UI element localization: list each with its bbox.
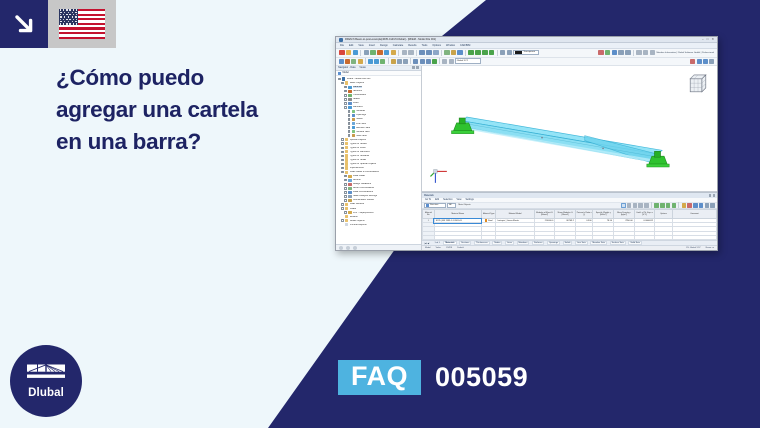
status-csrs: CS/RS (446, 247, 452, 249)
tree-expand-icon[interactable]: + (341, 203, 344, 206)
table-settings-icon[interactable] (710, 203, 715, 208)
tree-node-label: Types for Special Objects (350, 163, 376, 165)
app-status-bar: Model Value CS/RS Default CS: Global XYZ… (422, 245, 717, 250)
tree-node-label: Static Analysis Settings (353, 195, 377, 197)
tree-expand-icon[interactable]: + (348, 110, 351, 113)
table-first-icon[interactable] (654, 203, 659, 208)
navigator-refresh-icon[interactable] (353, 246, 357, 250)
main-objects-toggle[interactable]: Main Objects (457, 203, 473, 207)
navigator-collapse-icon[interactable] (346, 246, 350, 250)
status-value: Value (436, 247, 441, 249)
arrow-down-right-icon (0, 0, 48, 48)
tree-node-label: RFEM - Model File 001 (347, 78, 371, 80)
toolbar2-table-icon[interactable] (703, 59, 708, 64)
cell-material-no[interactable] (423, 235, 435, 239)
action-icon (348, 179, 351, 182)
us-flag-icon (48, 0, 116, 48)
toolbar-loads-icon[interactable] (457, 50, 463, 56)
tree-expand-icon[interactable]: + (344, 86, 347, 89)
app-title: RFEM 6 Beam-to-post-example[4635-CHN-5.D… (345, 38, 700, 41)
wizard-icon (348, 199, 351, 202)
toolbar2-measure-icon[interactable] (432, 59, 437, 64)
toolbar2-mirror-icon[interactable] (420, 59, 425, 64)
model-icon (342, 77, 345, 80)
navigator-pin-icon[interactable] (412, 66, 415, 69)
toolbar-results-icon[interactable] (507, 50, 513, 56)
table-menu-edit[interactable]: Edit (435, 199, 439, 201)
status-default: Default (457, 247, 464, 249)
toolbar-open-icon[interactable] (346, 50, 352, 56)
toolbar2-array-icon[interactable] (426, 59, 431, 64)
status-units: Name: m (706, 247, 714, 249)
tree-node-label: Load Cases & Combinations (350, 171, 380, 173)
table-pager-label: 1 of 1 (433, 242, 440, 244)
tree-node-label: Members (353, 106, 363, 108)
results-icon (345, 215, 348, 218)
surfaceset-icon (352, 130, 355, 133)
toolbar-copy-icon[interactable] (384, 50, 390, 56)
color-swatch-icon (515, 51, 522, 54)
toolbar2-member-icon[interactable] (351, 59, 356, 64)
cell-material-name[interactable] (434, 235, 481, 239)
structural-model (422, 66, 717, 192)
cell-mass-density[interactable] (614, 235, 635, 239)
main-objects-label: Main Objects (458, 204, 470, 206)
folder-icon (345, 219, 348, 222)
table-sort-icon[interactable] (633, 203, 638, 208)
col-shear-g[interactable]: Shear Modulus G [N/mm²] (555, 210, 576, 219)
tree-expand-icon[interactable]: + (348, 134, 351, 137)
table-pin-icon[interactable] (709, 194, 711, 196)
table-delete-row-icon[interactable] (687, 203, 692, 208)
tree-collapse-icon[interactable]: - (338, 78, 341, 81)
toolbar-ortho-icon[interactable] (433, 50, 439, 56)
tree-node-label: Types for Nodes (350, 143, 367, 145)
toolbar2-dimension-icon[interactable] (397, 59, 402, 64)
table-toolbar-separator (678, 202, 679, 208)
toolbar-numbering-icon[interactable] (451, 50, 457, 56)
toolbar-redo-icon[interactable] (408, 50, 414, 56)
model-icon (338, 72, 341, 75)
toolbar2-text-icon[interactable] (403, 59, 408, 64)
menu-item-design[interactable]: Design (380, 44, 388, 47)
tree-expand-icon[interactable]: + (348, 126, 351, 129)
structure-icon (426, 204, 429, 207)
coordinate-triad-icon (428, 165, 450, 185)
table-edit-icon[interactable] (693, 203, 698, 208)
toolbar2-select-icon[interactable] (442, 59, 447, 64)
tree-collapse-icon[interactable]: - (341, 82, 344, 85)
toolbar-separator (465, 50, 466, 56)
toolbar-save-icon[interactable] (353, 50, 359, 56)
tree-node-label: Solids (356, 118, 362, 120)
col-modulus-e[interactable]: Modulus of Elast. E [N/mm²] (534, 210, 555, 219)
toolbar-separator (416, 50, 417, 56)
tree-node-label: Guide Objects (350, 220, 365, 222)
table-prev-icon[interactable] (660, 203, 665, 208)
toolbar-plane-icon[interactable] (625, 50, 631, 56)
settings-icon (348, 195, 351, 198)
folder-icon (345, 138, 348, 141)
table-group-icon[interactable] (644, 203, 649, 208)
tree-expand-icon[interactable]: + (344, 191, 347, 194)
toolbar2-move-icon[interactable] (413, 59, 418, 64)
solid-icon (352, 118, 355, 121)
cell-poisson-nu[interactable] (575, 235, 593, 239)
scope-combo[interactable]: All (447, 203, 456, 207)
license-info: Member Information | Dlubal Software Gmb… (656, 52, 714, 54)
toolbar2-surface-icon[interactable] (358, 59, 363, 64)
toolbar-pan-icon[interactable] (482, 50, 488, 56)
toolbar-separator (365, 58, 366, 64)
opening-icon (352, 114, 355, 117)
materials-table-head: Material No. Material Name Material Type… (423, 210, 717, 219)
toolbar2-loadcase-icon[interactable] (391, 59, 396, 64)
cell-material-model[interactable] (496, 235, 534, 239)
dlubal-bridge-icon (26, 363, 66, 386)
table-panel-buttons[interactable] (709, 194, 715, 196)
tree-expand-icon[interactable]: + (341, 163, 344, 166)
tree-collapse-icon[interactable]: - (341, 171, 344, 174)
table-menu-selection[interactable]: Selection (443, 199, 452, 201)
tree-expand-icon[interactable]: + (341, 155, 344, 158)
tree-node-label: Line Sets (356, 123, 366, 125)
toolbar-iso-icon[interactable] (618, 50, 624, 56)
menu-item-tools[interactable]: Tools (422, 44, 428, 47)
toolbar-separator (410, 58, 411, 64)
tree-collapse-icon[interactable]: - (344, 106, 347, 109)
menu-item-cadbim[interactable]: CAD/BIM (460, 44, 470, 47)
toolbar-separator (398, 50, 399, 56)
dlubal-logo: Dlubal (10, 345, 82, 417)
combination-icon (348, 187, 351, 190)
tree-node-label: Combination Wizard (353, 199, 374, 201)
tree-expand-icon[interactable]: + (344, 90, 347, 93)
col-options[interactable]: Options (655, 210, 673, 219)
tree-expand-icon[interactable]: + (341, 159, 344, 162)
table-print-icon[interactable] (705, 203, 710, 208)
toolbar-new-icon[interactable] (339, 50, 345, 56)
toolbar-separator (633, 50, 634, 56)
toolbar-visibility-icon[interactable] (636, 50, 642, 56)
structure-filter-label: Structure (430, 204, 438, 206)
menu-item-results[interactable]: Results (408, 44, 416, 47)
faq-footer: FAQ 005059 (338, 360, 528, 395)
toolbar-calculate-icon[interactable] (500, 50, 506, 56)
display-style-value: Transparent (523, 51, 535, 53)
navigator-footer[interactable] (336, 244, 421, 250)
tree-node-label: Load Cases (353, 175, 365, 177)
tree-node-label: Types for Members (350, 151, 370, 153)
col-material-model[interactable]: Material Model (496, 210, 534, 219)
folder-icon (345, 154, 348, 157)
tree-node-label: Load Combinations (353, 191, 373, 193)
toolbar-separator (388, 58, 389, 64)
tree-expand-icon[interactable]: + (344, 211, 347, 214)
tree-node-label: Printout Reports (350, 224, 367, 226)
rfem-application-window: RFEM 6 Beam-to-post-example[4635-CHN-5.D… (335, 36, 718, 251)
table-row[interactable] (423, 235, 717, 239)
folder-icon (345, 171, 348, 174)
menu-item-edit[interactable]: Edit (349, 44, 353, 47)
navigator-close-icon[interactable] (416, 66, 419, 69)
toolbar2-hinge-icon[interactable] (380, 59, 385, 64)
navigator-tab-data[interactable]: Navigator - Data (338, 66, 355, 69)
material-type-swatch-icon (485, 219, 487, 221)
col-mass-density[interactable]: Mass Density ρ [kg/m³] (614, 210, 635, 219)
lineset-icon (352, 122, 355, 125)
tree-expand-icon[interactable]: + (344, 187, 347, 190)
tree-expand-icon[interactable]: + (344, 179, 347, 182)
minimize-icon[interactable]: – (702, 38, 704, 41)
maximize-icon[interactable]: □ (707, 38, 709, 41)
cell-options[interactable] (655, 235, 673, 239)
tree-expand-icon[interactable]: + (341, 142, 344, 145)
navigator-header-buttons[interactable] (412, 66, 419, 69)
app-toolbar-secondary[interactable]: Global XYZ (336, 58, 717, 66)
tree-node-label: Sections (353, 90, 362, 92)
materials-table: Material No. Material Name Material Type… (422, 209, 717, 240)
headline-line-3: en una barra? (56, 126, 326, 158)
faq-banner: ¿Cómo puedo agregar una cartela en una b… (0, 0, 760, 428)
menu-item-insert[interactable]: Insert (369, 44, 375, 47)
navigator-tab-views[interactable]: Views (359, 66, 365, 69)
tree-node-label: LC1 - Superposition (353, 212, 374, 214)
tree-node-label: Actions (353, 179, 361, 181)
tree-expand-icon[interactable]: + (341, 151, 344, 154)
tree-node-label: Special Objects (350, 139, 366, 141)
table-menu-goto[interactable]: Go To (425, 199, 431, 201)
window-controls[interactable]: – □ ✕ (702, 38, 714, 41)
toolbar-preview-icon[interactable] (370, 50, 376, 56)
tree-expand-icon[interactable]: + (344, 195, 347, 198)
cell-comment[interactable] (672, 235, 716, 239)
toolbar-separator (441, 50, 442, 56)
app-toolbar-primary[interactable]: Transparent Member Information | Dlubal … (336, 49, 717, 58)
toolbar-zoom-all-icon[interactable] (468, 50, 474, 56)
view-cube-icon[interactable] (685, 71, 711, 97)
table-columns-icon[interactable] (627, 203, 632, 208)
tree-expand-icon[interactable]: + (344, 183, 347, 186)
coordinate-system-value: Global XYZ (457, 60, 468, 62)
table-filter-icon[interactable] (638, 203, 643, 208)
table-menu-view[interactable]: View (457, 199, 462, 201)
tree-spacer-icon (341, 223, 344, 226)
load-icon (348, 211, 351, 214)
tree-node-label: Loads (350, 208, 356, 210)
toolbar-layers-icon[interactable] (643, 50, 649, 56)
col-specific-weight[interactable]: Specific Weight γ [kN/m³] (593, 210, 614, 219)
toolbar-print-icon[interactable] (364, 50, 370, 56)
col-material-no[interactable]: Material No. (423, 210, 435, 219)
toolbar-grid-icon[interactable] (419, 50, 425, 56)
tree-spacer-icon (341, 215, 344, 218)
toolbar2-node-icon[interactable] (339, 59, 344, 64)
tree-node-label: Load Wizards (350, 203, 364, 205)
toolbar2-settings-icon[interactable] (709, 59, 714, 64)
loadcomb-icon (348, 191, 351, 194)
tree-expand-icon[interactable]: + (348, 114, 351, 117)
viewport-and-table: Materials Go To Edit Selection View Sett… (422, 66, 717, 251)
solidset-icon (352, 134, 355, 137)
tree-node-label: Openings (356, 114, 366, 116)
toolbar-render-icon[interactable] (444, 50, 450, 56)
tree-node-label: Member Sets (356, 127, 370, 129)
materials-header-row: Material No. Material Name Material Type… (423, 210, 717, 219)
table-last-icon[interactable] (672, 203, 677, 208)
col-comment[interactable]: Comment (672, 210, 716, 219)
table-panel-title: Materials (424, 194, 434, 197)
menu-item-options[interactable]: Options (432, 44, 441, 47)
menu-item-view[interactable]: View (358, 44, 363, 47)
app-icon (339, 38, 343, 42)
toolbar2-support-icon[interactable] (374, 59, 379, 64)
materials-table-body[interactable]: 1S235 | EN 1993-1-1:2005-05SteelIsotropi… (423, 219, 717, 240)
tree-node-label: Types for Solids (350, 159, 367, 161)
tree-node-label: Surface Sets (356, 131, 369, 133)
tree-node-label: Thicknesses (353, 94, 366, 96)
cell-shear-g[interactable] (555, 235, 576, 239)
tree-expand-icon[interactable]: + (344, 98, 347, 101)
structure-filter-combo[interactable]: Structure (424, 203, 446, 207)
table-close-icon[interactable] (713, 194, 715, 196)
model-viewport[interactable] (422, 66, 717, 193)
toolbar2-filter-icon[interactable] (449, 59, 454, 64)
tree-node[interactable]: Printout Reports (336, 223, 421, 227)
materials-table-panel: Materials Go To Edit Selection View Sett… (422, 192, 717, 250)
headline-line-2: agregar una cartela (56, 94, 326, 126)
tree-node-label: Results (350, 216, 358, 218)
display-style-combo[interactable]: Transparent (513, 50, 539, 55)
col-poisson-nu[interactable]: Poisson's Ratio ν [-] (575, 210, 593, 219)
tree-collapse-icon[interactable]: - (341, 207, 344, 210)
tree-expand-icon[interactable]: + (341, 167, 344, 170)
toolbar-snap-icon[interactable] (426, 50, 432, 56)
thickness-icon (348, 94, 351, 97)
surface-icon (352, 110, 355, 113)
tree-expand-icon[interactable]: + (341, 138, 344, 141)
navigator-expand-icon[interactable] (339, 246, 343, 250)
folder-icon (345, 203, 348, 206)
faq-number: 005059 (435, 364, 528, 391)
tree-node-label: Design Situations (353, 183, 371, 185)
tree-node-label: Lines (353, 102, 359, 104)
scope-value: All (449, 204, 451, 206)
tree-node-label: Nodes (353, 98, 360, 100)
folder-icon (345, 162, 348, 165)
coordinate-system-combo[interactable]: Global XYZ (455, 58, 481, 63)
page-title: ¿Cómo puedo agregar una cartela en una b… (56, 62, 326, 158)
tree-expand-icon[interactable]: + (344, 199, 347, 202)
table-export-icon[interactable] (699, 203, 704, 208)
tree-expand-icon[interactable]: + (348, 122, 351, 125)
memberset-icon (352, 126, 355, 129)
tree-node-label: Types for Surfaces (350, 155, 369, 157)
toolbar2-properties-icon[interactable] (697, 59, 702, 64)
navigator-tree[interactable]: -RFEM - Model File 001-Basic Objects+Mat… (336, 76, 421, 244)
tree-expand-icon[interactable]: + (344, 94, 347, 97)
folder-icon (345, 207, 348, 210)
report-icon (345, 223, 348, 226)
navigator-tabs[interactable]: Navigator - Data Views (338, 66, 366, 69)
tree-expand-icon[interactable]: + (348, 118, 351, 121)
table-find-icon[interactable] (621, 203, 626, 208)
headline-line-1: ¿Cómo puedo (56, 62, 326, 94)
table-new-row-icon[interactable] (682, 203, 687, 208)
material-icon (348, 86, 351, 89)
cell-thermal-alpha[interactable] (634, 235, 655, 239)
node-icon (348, 98, 351, 101)
toolbar2-delete-icon[interactable] (690, 59, 695, 64)
tree-expand-icon[interactable]: + (341, 219, 344, 222)
tree-node-label: Imperfections (350, 167, 364, 169)
navigator-panel: Navigator - Data Views Model -RFEM - Mod… (336, 66, 422, 251)
tree-node-label: Types for Lines (350, 147, 366, 149)
menu-item-window[interactable]: Window (446, 44, 455, 47)
toolbar-y-icon[interactable] (605, 50, 611, 56)
tree-node-label: Materials (353, 86, 362, 88)
col-thermal-alpha[interactable]: Coeff. of Th. Exp. α [1/°C] (634, 210, 655, 219)
close-icon[interactable]: ✕ (711, 38, 714, 41)
toolbar-help-icon[interactable] (650, 50, 656, 56)
table-toolbar-separator (651, 202, 652, 208)
cell-specific-weight[interactable] (593, 235, 614, 239)
status-model: Model (425, 247, 431, 249)
toolbar-x-icon[interactable] (598, 50, 604, 56)
menu-item-file[interactable]: File (340, 44, 344, 47)
situation-icon (348, 183, 351, 186)
toolbar-z-icon[interactable] (612, 50, 618, 56)
tree-expand-icon[interactable]: + (344, 175, 347, 178)
toolbar2-solid-icon[interactable] (368, 59, 373, 64)
toolbar-undo-icon[interactable] (402, 50, 408, 56)
line-icon (348, 102, 351, 105)
col-material-type[interactable]: Material Type (481, 210, 496, 219)
toolbar-rotate-icon[interactable] (489, 50, 495, 56)
toolbar-zoom-window-icon[interactable] (475, 50, 481, 56)
tree-node-label: Basic Objects (350, 82, 364, 84)
tree-node-label: Solid Sets (356, 135, 366, 137)
folder-icon (345, 158, 348, 161)
member-icon (348, 106, 351, 109)
materials-grid[interactable]: Material No. Material Name Material Type… (422, 209, 717, 240)
loadcase-icon (348, 175, 351, 178)
toolbar-separator (439, 58, 440, 64)
toolbar-cut-icon[interactable] (377, 50, 383, 56)
tree-expand-icon[interactable]: + (341, 147, 344, 150)
col-material-name[interactable]: Material Name (434, 210, 481, 219)
cell-modulus-e[interactable] (534, 235, 555, 239)
tree-expand-icon[interactable]: + (348, 130, 351, 133)
dlubal-wordmark: Dlubal (28, 388, 64, 400)
toolbar-paste-icon[interactable] (391, 50, 397, 56)
toolbar-separator (497, 50, 498, 56)
menu-item-calculate[interactable]: Calculate (393, 44, 403, 47)
header-badges (0, 0, 116, 48)
cell-material-type[interactable] (481, 235, 496, 239)
folder-icon (345, 81, 348, 84)
tree-expand-icon[interactable]: + (344, 102, 347, 105)
folder-icon (345, 166, 348, 169)
faq-badge: FAQ (338, 360, 421, 395)
section-icon (348, 90, 351, 93)
navigator-subtitle: Model (343, 72, 349, 74)
tree-node-label: Action Combinations (353, 187, 374, 189)
toolbar2-line-icon[interactable] (345, 59, 350, 64)
app-body: Navigator - Data Views Model -RFEM - Mod… (336, 66, 717, 251)
table-menu-settings[interactable]: Settings (465, 199, 473, 201)
table-next-icon[interactable] (666, 203, 671, 208)
